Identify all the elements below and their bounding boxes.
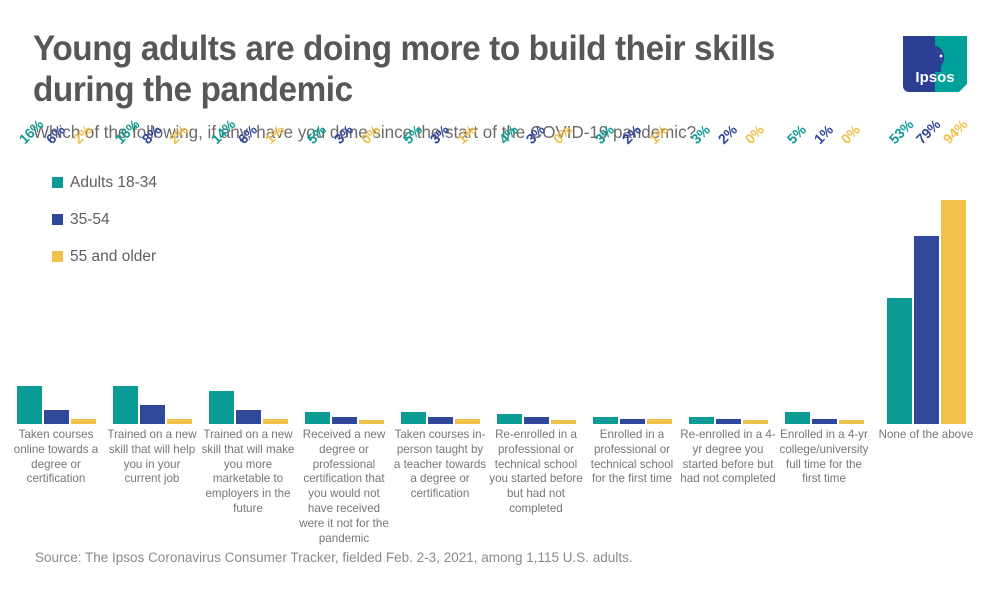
bar-3[interactable]: 94% bbox=[941, 150, 966, 424]
bar-2[interactable]: 3% bbox=[428, 150, 453, 424]
bar-3[interactable]: 1% bbox=[647, 150, 672, 424]
bar-rect[interactable] bbox=[305, 412, 330, 424]
bar-group: 3%2%1%Enrolled in a professional or tech… bbox=[584, 150, 680, 540]
category-label: None of the above bbox=[872, 428, 980, 443]
bar-rect[interactable] bbox=[428, 417, 453, 424]
bar-group-bars: 5%3%0% bbox=[296, 150, 392, 424]
bar-group-bars: 14%6%1% bbox=[200, 150, 296, 424]
bar-rect[interactable] bbox=[914, 236, 939, 424]
bar-rect[interactable] bbox=[839, 420, 864, 424]
bar-3[interactable]: 2% bbox=[71, 150, 96, 424]
bar-group: 16%6%2%Taken courses online towards a de… bbox=[8, 150, 104, 540]
bar-1[interactable]: 3% bbox=[593, 150, 618, 424]
bar-chart-plot-area: 16%6%2%Taken courses online towards a de… bbox=[0, 150, 1000, 540]
category-label: Re-enrolled in a professional or technic… bbox=[488, 428, 584, 517]
bar-1[interactable]: 5% bbox=[305, 150, 330, 424]
page-title: Young adults are doing more to build the… bbox=[33, 28, 784, 111]
bar-2[interactable]: 79% bbox=[914, 150, 939, 424]
bar-rect[interactable] bbox=[593, 417, 618, 424]
bar-1[interactable]: 3% bbox=[689, 150, 714, 424]
bar-2[interactable]: 8% bbox=[140, 150, 165, 424]
bar-rect[interactable] bbox=[887, 298, 912, 424]
bar-2[interactable]: 3% bbox=[524, 150, 549, 424]
bar-group-bars: 5%3%1% bbox=[392, 150, 488, 424]
bar-rect[interactable] bbox=[401, 412, 426, 424]
ipsos-logo: Ipsos bbox=[903, 36, 967, 92]
ipsos-logo-icon: Ipsos bbox=[903, 36, 967, 92]
category-label: Taken courses online towards a degree or… bbox=[8, 428, 104, 487]
bar-group: 14%6%1%Trained on a new skill that will … bbox=[200, 150, 296, 540]
bar-rect[interactable] bbox=[455, 419, 480, 424]
bar-group-bars: 53%79%94% bbox=[872, 150, 980, 424]
bar-group-bars: 3%2%0% bbox=[680, 150, 776, 424]
bar-2[interactable]: 1% bbox=[812, 150, 837, 424]
bar-3[interactable]: 2% bbox=[167, 150, 192, 424]
category-label: Received a new degree or professional ce… bbox=[296, 428, 392, 547]
bar-2[interactable]: 6% bbox=[236, 150, 261, 424]
bar-rect[interactable] bbox=[359, 420, 384, 424]
bar-group-bars: 5%1%0% bbox=[776, 150, 872, 424]
bar-2[interactable]: 3% bbox=[332, 150, 357, 424]
bar-rect[interactable] bbox=[71, 419, 96, 424]
bar-group: 5%1%0%Enrolled in a 4-yr college/univers… bbox=[776, 150, 872, 540]
bar-rect[interactable] bbox=[941, 200, 966, 424]
bar-3[interactable]: 0% bbox=[743, 150, 768, 424]
bar-1[interactable]: 16% bbox=[17, 150, 42, 424]
bar-3[interactable]: 0% bbox=[839, 150, 864, 424]
category-label: Taken courses in-person taught by a teac… bbox=[392, 428, 488, 502]
logo-wordmark: Ipsos bbox=[915, 69, 954, 86]
bar-group: 53%79%94%None of the above bbox=[872, 150, 980, 540]
bar-rect[interactable] bbox=[785, 412, 810, 424]
bar-group-bars: 3%2%1% bbox=[584, 150, 680, 424]
bar-1[interactable]: 16% bbox=[113, 150, 138, 424]
category-label: Re-enrolled in a 4-yr degree you started… bbox=[680, 428, 776, 487]
bar-rect[interactable] bbox=[812, 419, 837, 424]
bar-2[interactable]: 2% bbox=[620, 150, 645, 424]
bar-3[interactable]: 1% bbox=[263, 150, 288, 424]
bar-1[interactable]: 4% bbox=[497, 150, 522, 424]
bar-1[interactable]: 5% bbox=[401, 150, 426, 424]
bar-rect[interactable] bbox=[44, 410, 69, 424]
bar-1[interactable]: 14% bbox=[209, 150, 234, 424]
bar-rect[interactable] bbox=[236, 410, 261, 424]
bar-2[interactable]: 2% bbox=[716, 150, 741, 424]
bar-rect[interactable] bbox=[140, 405, 165, 424]
bar-group-bars: 16%6%2% bbox=[8, 150, 104, 424]
bar-rect[interactable] bbox=[209, 391, 234, 424]
bar-rect[interactable] bbox=[620, 419, 645, 424]
bar-rect[interactable] bbox=[113, 386, 138, 424]
bar-rect[interactable] bbox=[743, 420, 768, 424]
category-label: Enrolled in a 4-yr college/university fu… bbox=[776, 428, 872, 487]
bar-rect[interactable] bbox=[497, 414, 522, 424]
category-label: Trained on a new skill that will help yo… bbox=[104, 428, 200, 487]
bar-3[interactable]: 0% bbox=[359, 150, 384, 424]
bar-group: 16%8%2%Trained on a new skill that will … bbox=[104, 150, 200, 540]
bar-2[interactable]: 6% bbox=[44, 150, 69, 424]
bar-rect[interactable] bbox=[524, 417, 549, 424]
bar-rect[interactable] bbox=[647, 419, 672, 424]
bar-rect[interactable] bbox=[332, 417, 357, 424]
bar-rect[interactable] bbox=[689, 417, 714, 424]
bar-rect[interactable] bbox=[716, 419, 741, 424]
bar-group: 5%3%0%Received a new degree or professio… bbox=[296, 150, 392, 540]
bar-group: 5%3%1%Taken courses in-person taught by … bbox=[392, 150, 488, 540]
source-note: Source: The Ipsos Coronavirus Consumer T… bbox=[35, 550, 633, 565]
category-label: Trained on a new skill that will make yo… bbox=[200, 428, 296, 517]
bar-rect[interactable] bbox=[167, 419, 192, 424]
bar-group-bars: 16%8%2% bbox=[104, 150, 200, 424]
bar-3[interactable]: 0% bbox=[551, 150, 576, 424]
bar-group: 4%3%0%Re-enrolled in a professional or t… bbox=[488, 150, 584, 540]
bar-1[interactable]: 53% bbox=[887, 150, 912, 424]
bar-rect[interactable] bbox=[17, 386, 42, 424]
bar-rect[interactable] bbox=[551, 420, 576, 424]
bar-group: 3%2%0%Re-enrolled in a 4-yr degree you s… bbox=[680, 150, 776, 540]
bar-rect[interactable] bbox=[263, 419, 288, 424]
category-label: Enrolled in a professional or technical … bbox=[584, 428, 680, 487]
bar-1[interactable]: 5% bbox=[785, 150, 810, 424]
bar-group-bars: 4%3%0% bbox=[488, 150, 584, 424]
bar-3[interactable]: 1% bbox=[455, 150, 480, 424]
